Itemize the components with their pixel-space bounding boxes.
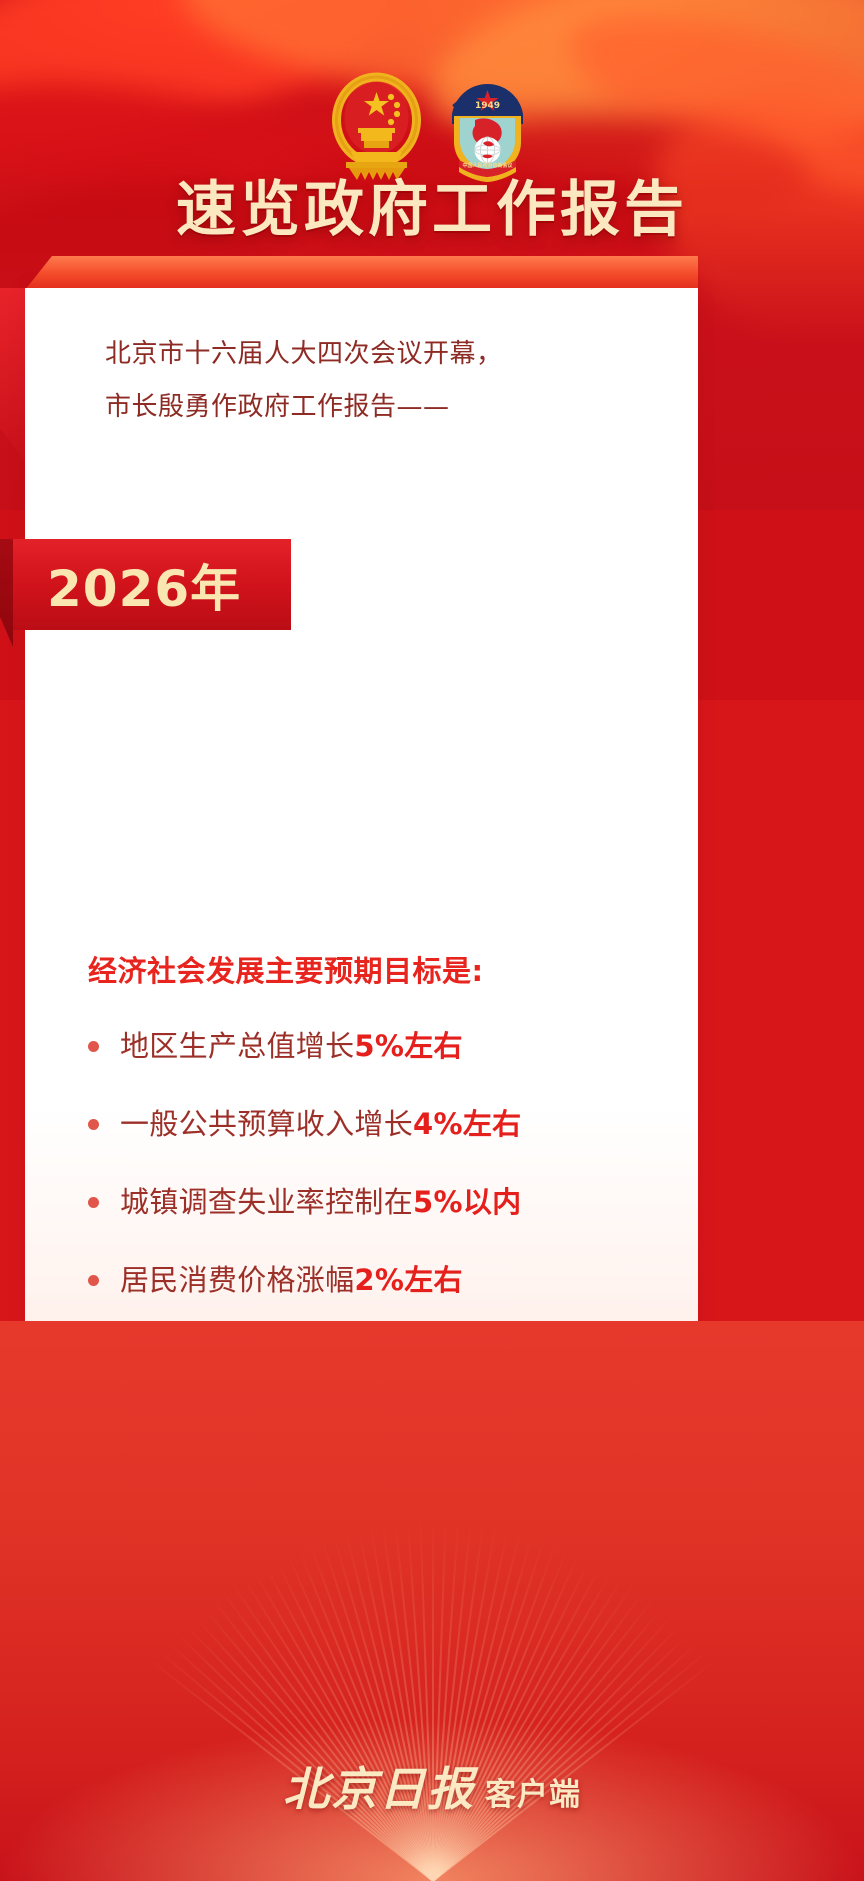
brand-mark-label: 北京日报: [283, 1753, 475, 1819]
footer-brand: 北京日报 客户端: [0, 1753, 864, 1819]
year-badge: 2026年: [13, 539, 291, 630]
svg-text:中国人民政治协商会议: 中国人民政治协商会议: [462, 162, 513, 169]
bullet-dot-icon: [88, 1275, 99, 1286]
brand-sub-label: 客户端: [485, 1769, 581, 1814]
bullet-text-highlight: 5%左右: [354, 1029, 462, 1063]
year-badge-label: 2026年: [47, 549, 241, 621]
goal-bullet-item: 城镇调查失业率控制在5%以内: [88, 1180, 688, 1225]
goal-bullet-text: 居民消费价格涨幅2%左右: [120, 1258, 686, 1303]
bullet-text-highlight: 5%以内: [413, 1185, 521, 1219]
bullet-dot-icon: [88, 1197, 99, 1208]
bullet-dot-icon: [88, 1119, 99, 1130]
bullet-text-plain-lead: 一般公共预算收入增长: [120, 1107, 413, 1141]
bullet-text-plain-lead: 城镇调查失业率控制在: [120, 1185, 413, 1219]
poster-root: 1949 中国人民政治协商会议: [0, 0, 864, 1881]
bullet-text-highlight: 4%左右: [413, 1107, 521, 1141]
bullet-text-plain-lead: 地区生产总值增长: [120, 1029, 354, 1063]
goal-bullet-item: 地区生产总值增长5%左右: [88, 1024, 688, 1069]
intro-line-1: 北京市十六届人大四次会议开幕，: [105, 328, 665, 381]
bullet-text-highlight: 2%左右: [354, 1263, 462, 1297]
cppcc-emblem-icon: 1949 中国人民政治协商会议: [440, 72, 535, 184]
card-top-bevel: [25, 256, 698, 290]
national-emblem-of-china-icon: [329, 72, 424, 184]
poster-title: 速览政府工作报告: [0, 178, 864, 243]
goal-bullet-item: 居民消费价格涨幅2%左右: [88, 1258, 688, 1303]
goal-bullet-text: 城镇调查失业率控制在5%以内: [120, 1180, 686, 1225]
intro-paragraph: 北京市十六届人大四次会议开幕， 市长殷勇作政府工作报告——: [105, 328, 665, 435]
svg-text:1949: 1949: [475, 101, 500, 111]
goals-list-heading: 经济社会发展主要预期目标是:: [88, 948, 688, 990]
emblem-group: 1949 中国人民政治协商会议: [0, 72, 864, 184]
bullet-dot-icon: [88, 1041, 99, 1052]
content-card: 北京市十六届人大四次会议开幕， 市长殷勇作政府工作报告—— 经济社会发展主要预期…: [25, 288, 698, 1423]
goal-bullet-text: 一般公共预算收入增长4%左右: [120, 1102, 686, 1147]
goal-bullet-item: 一般公共预算收入增长4%左右: [88, 1102, 688, 1147]
intro-line-2: 市长殷勇作政府工作报告——: [105, 381, 665, 434]
bullet-text-plain-lead: 居民消费价格涨幅: [120, 1263, 354, 1297]
goal-bullet-text: 地区生产总值增长5%左右: [120, 1024, 686, 1069]
